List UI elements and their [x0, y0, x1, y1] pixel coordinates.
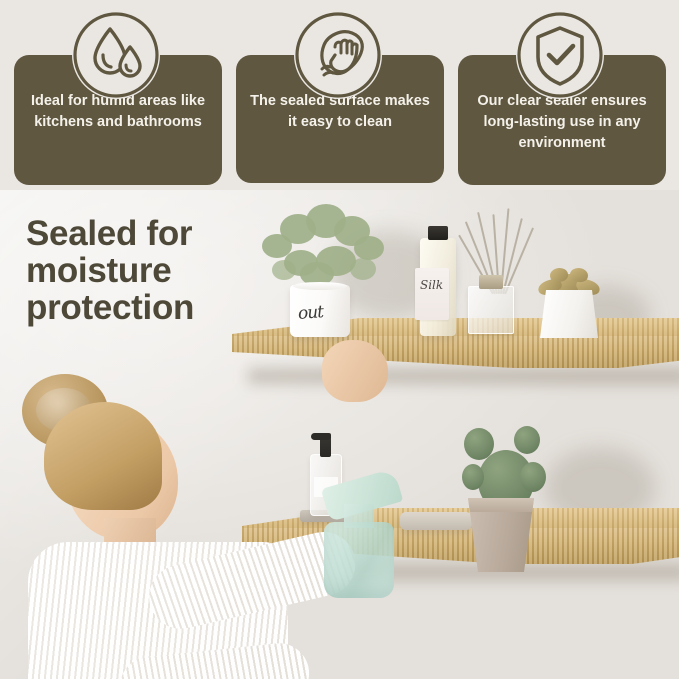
feature-card-label: Our clear sealer ensures long-lasting us…	[468, 91, 656, 154]
white-geometric-planter	[540, 290, 598, 338]
spray-body	[324, 522, 394, 598]
product-feature-graphic: out Silk	[0, 0, 679, 679]
girl-holding-spray-bottle	[0, 360, 330, 679]
hand-wiping-cloth-icon	[294, 11, 382, 99]
water-droplets-icon	[72, 11, 160, 99]
mint-green-spray-bottle	[310, 480, 406, 600]
ceramic-dish	[400, 512, 472, 530]
cactus-plant	[462, 420, 552, 510]
diffuser-collar	[479, 275, 503, 289]
reed-diffuser-vessel	[468, 286, 514, 334]
bottle-cap	[428, 226, 448, 240]
amber-glass-bottle: Silk	[420, 238, 456, 336]
pot-script-text: out	[297, 302, 323, 324]
potted-greenery-foliage	[254, 200, 394, 295]
feature-cards-row: Ideal for humid areas like kitchens and …	[0, 0, 679, 196]
bottle-label: Silk	[415, 268, 449, 320]
white-plant-pot: out	[290, 285, 350, 337]
shield-check-icon	[516, 11, 604, 99]
page-headline: Sealed for moisture protection	[26, 216, 256, 326]
upper-hand	[322, 340, 388, 402]
hair	[44, 402, 162, 510]
